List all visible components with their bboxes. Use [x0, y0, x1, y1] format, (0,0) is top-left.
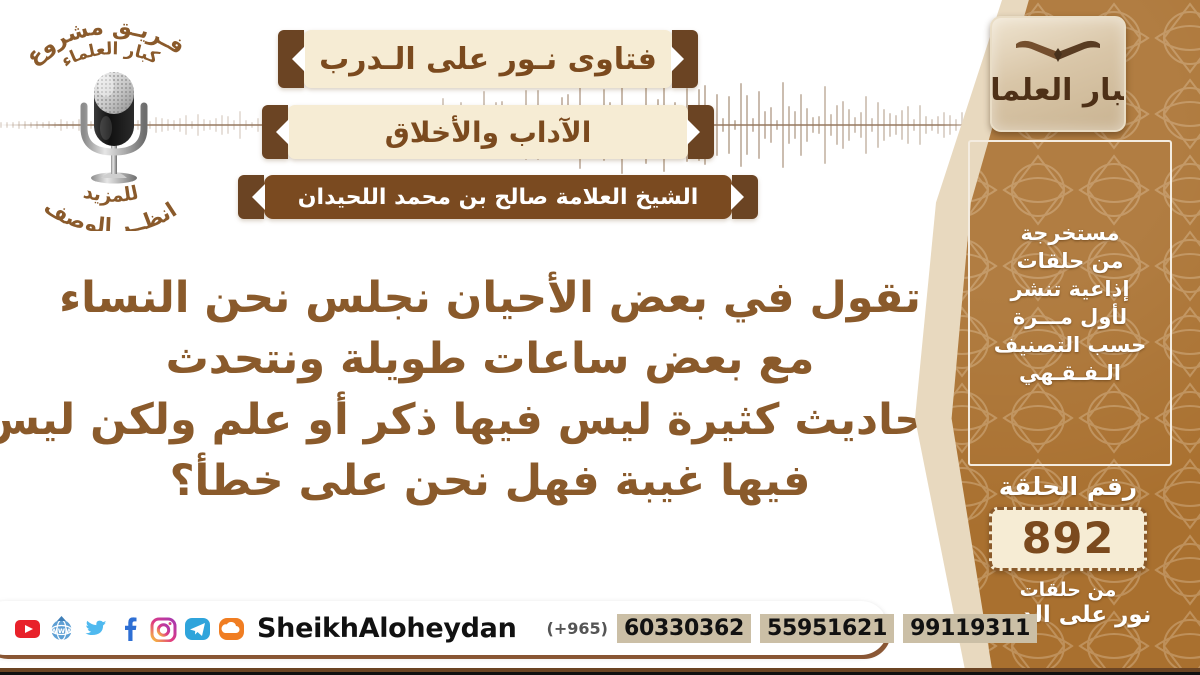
- episode-number: 892: [1022, 514, 1115, 564]
- episode-label: رقم الحلقة: [962, 472, 1174, 501]
- question-line: تقول في بعض الأحيان نجلس نحن النساء: [40, 268, 940, 329]
- facebook-icon[interactable]: [116, 615, 143, 642]
- telegram-icon[interactable]: [184, 615, 211, 642]
- ribbon-cap-right: [672, 30, 698, 88]
- instagram-icon[interactable]: [150, 615, 177, 642]
- logo-arc-text-bottom: للمزيد انظــر الوصف: [12, 159, 212, 231]
- sidebar-panel: كبار العلماء مستخرجةمن حلقاتإذاعية تنشرل…: [900, 0, 1200, 675]
- ribbon-cap-left: [262, 105, 288, 159]
- ribbon-cap-left: [238, 175, 264, 219]
- sidebar-description-box: مستخرجةمن حلقاتإذاعية تنشرلأول مـــرةحسب…: [968, 140, 1172, 466]
- question-text: تقول في بعض الأحيان نجلس نحن النساءمع بع…: [40, 268, 940, 512]
- banner-scholar-name-text: الشيخ العلامة صالح بن محمد اللحيدان: [264, 175, 732, 219]
- question-line: مع بعض ساعات طويلة ونتحدث: [40, 329, 940, 390]
- question-line: أحاديث كثيرة ليس فيها ذكر أو علم ولكن لي…: [40, 390, 940, 451]
- banner-category-text: الآداب والأخلاق: [288, 105, 688, 159]
- social-icons-row: www: [14, 615, 245, 642]
- open-book-icon: كبار العلماء: [992, 18, 1124, 130]
- badge-text: كبار العلماء: [992, 73, 1124, 108]
- logo-arc-line1: فـريـق مشروع: [21, 14, 189, 70]
- sidebar-description-line: مستخرجة: [1021, 221, 1120, 245]
- episode-info: رقم الحلقة 892 من حلقات نور على الدرب: [962, 472, 1174, 628]
- social-handle[interactable]: SheikhAloheydan: [257, 613, 517, 644]
- youtube-icon[interactable]: [14, 615, 41, 642]
- banner-category: الآداب والأخلاق: [262, 105, 714, 159]
- banner-program-title-text: فتاوى نـور على الـدرب: [304, 30, 672, 88]
- banner-scholar-name: الشيخ العلامة صالح بن محمد اللحيدان: [238, 175, 758, 219]
- question-line: فيها غيبة فهل نحن على خطأ؟: [40, 451, 940, 512]
- phone-number[interactable]: 99119311: [903, 614, 1037, 643]
- ribbon-cap-right: [732, 175, 758, 219]
- svg-text:www: www: [50, 626, 73, 635]
- phone-number[interactable]: 55951621: [760, 614, 894, 643]
- banner-program-title: فتاوى نـور على الـدرب: [278, 30, 698, 88]
- ribbon-cap-left: [278, 30, 304, 88]
- sidebar-description-line: الـفـقـهي: [1019, 361, 1121, 385]
- logo-arc-line3: للمزيد: [81, 181, 140, 207]
- country-code: (+965): [547, 619, 608, 638]
- twitter-icon[interactable]: [82, 615, 109, 642]
- kibar-ulama-logo-badge: كبار العلماء: [990, 16, 1126, 132]
- sidebar-description-line: حسب التصنيف: [994, 333, 1147, 357]
- sidebar-description-line: إذاعية تنشر: [1010, 277, 1129, 301]
- website-www-icon[interactable]: www: [48, 615, 75, 642]
- sidebar-description-line: لأول مـــرة: [1013, 305, 1127, 329]
- episode-number-box: 892: [989, 507, 1147, 571]
- thumbnail-canvas: فـريـق مشروع كبار العلماء: [0, 0, 1200, 675]
- soundcloud-icon[interactable]: [218, 615, 245, 642]
- contact-bar: www: [0, 601, 888, 655]
- ribbon-cap-right: [688, 105, 714, 159]
- phone-number[interactable]: 60330362: [617, 614, 751, 643]
- sidebar-description-line: من حلقات: [1016, 249, 1123, 273]
- episode-sub-line1: من حلقات: [962, 579, 1174, 601]
- project-logo: فـريـق مشروع كبار العلماء: [6, 4, 216, 229]
- sidebar-content: كبار العلماء مستخرجةمن حلقاتإذاعية تنشرل…: [948, 0, 1186, 675]
